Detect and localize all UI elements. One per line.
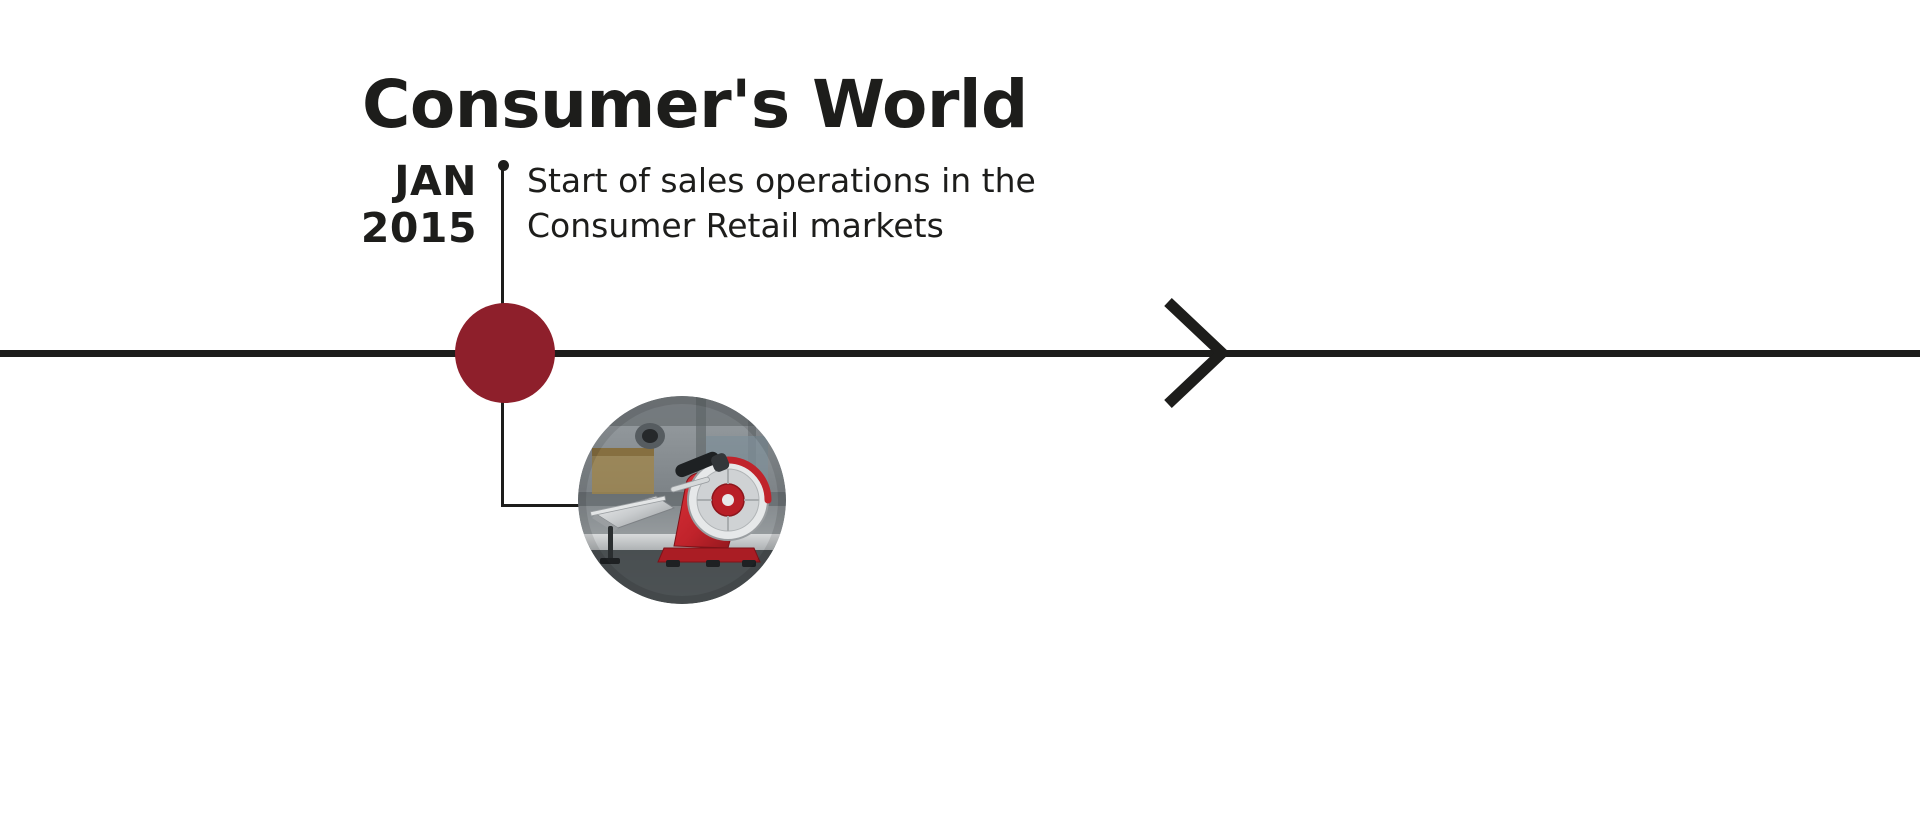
event-date-year: 2015 bbox=[215, 205, 477, 252]
timeline-axis-line-continuation bbox=[1213, 350, 1920, 357]
event-date-month: JAN bbox=[215, 158, 477, 205]
event-date: JAN 2015 bbox=[215, 158, 477, 252]
timeline-infographic: Consumer's World JAN 2015 Start of sales… bbox=[0, 0, 1920, 818]
timeline-marker-circle[interactable] bbox=[455, 303, 555, 403]
event-description-line-1: Start of sales operations in the bbox=[527, 158, 1187, 203]
timeline-arrow-right-icon bbox=[1160, 296, 1230, 411]
event-description: Start of sales operations in the Consume… bbox=[527, 158, 1187, 248]
event-photo-thumbnail[interactable] bbox=[578, 396, 786, 604]
page-title: Consumer's World bbox=[362, 72, 1028, 138]
event-description-line-2: Consumer Retail markets bbox=[527, 203, 1187, 248]
